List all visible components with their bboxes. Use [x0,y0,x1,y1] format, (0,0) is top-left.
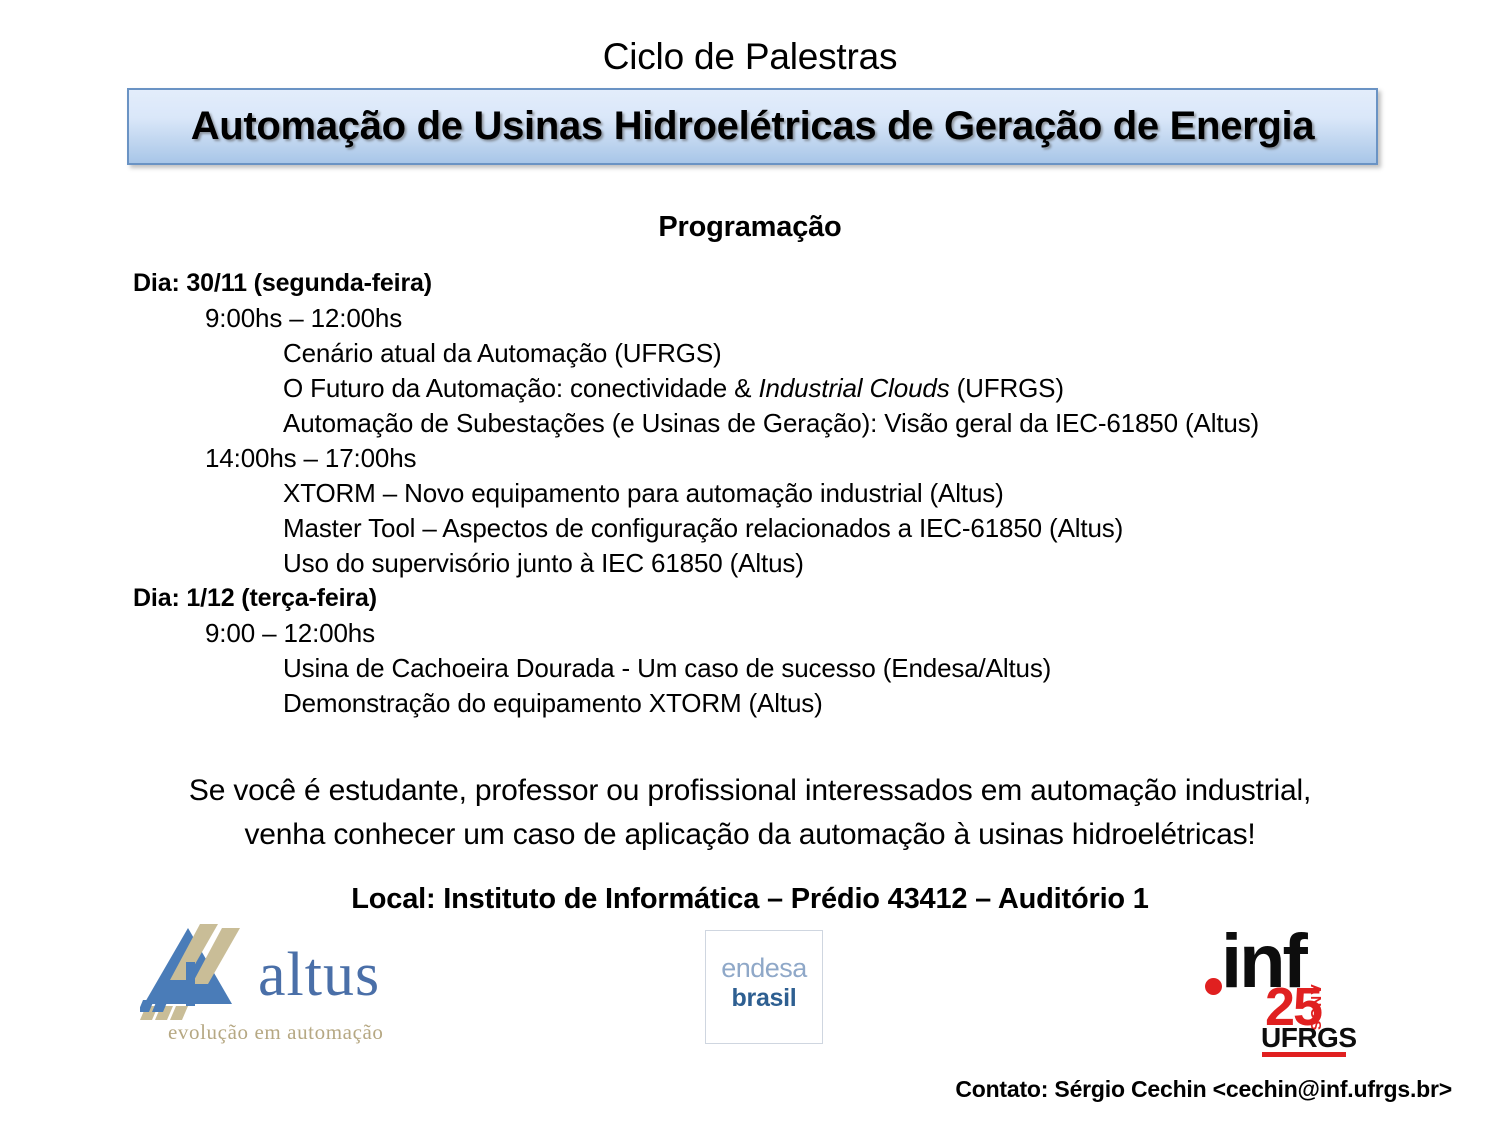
schedule-talk: Cenário atual da Automação (UFRGS) [133,336,1500,371]
altus-tagline: evolução em automação [168,1020,384,1045]
schedule-talk: Usina de Cachoeira Dourada - Um caso de … [133,651,1500,686]
schedule-talk: Master Tool – Aspectos de configuração r… [133,511,1500,546]
talk-italic: Industrial Clouds [758,373,949,403]
endesa-logo: endesa brasil [705,930,823,1044]
schedule-talk: Automação de Subestações (e Usinas de Ge… [133,406,1500,441]
endesa-wordmark: endesa [706,955,822,982]
venue-line: Local: Instituto de Informática – Prédio… [0,883,1500,916]
contact-line: Contato: Sérgio Cechin <cechin@inf.ufrgs… [955,1076,1452,1103]
title-banner: Automação de Usinas Hidroelétricas de Ge… [127,88,1378,165]
page-kicker: Ciclo de Palestras [0,0,1500,77]
schedule-time: 9:00hs – 12:00hs [133,301,1500,336]
call-to-action: Se você é estudante, professor ou profis… [0,769,1500,857]
schedule-list: Dia: 30/11 (segunda-feira) 9:00hs – 12:0… [0,266,1500,721]
schedule-talk: Demonstração do equipamento XTORM (Altus… [133,686,1500,721]
inf-ufrgs-logo: inf 25 ANOS UFRGS [1203,926,1363,1056]
schedule-talk: Uso do supervisório junto à IEC 61850 (A… [133,546,1500,581]
schedule-day-label: Dia: 1/12 (terça-feira) [133,581,1500,616]
schedule-time: 9:00 – 12:00hs [133,616,1500,651]
inf-underline-bar [1262,1052,1346,1057]
endesa-country: brasil [706,986,822,1011]
altus-wordmark: altus [258,940,380,1011]
page-title: Automação de Usinas Hidroelétricas de Ge… [191,104,1315,149]
call-to-action-line-1: Se você é estudante, professor ou profis… [0,769,1500,813]
altus-mountain-icon [140,922,252,1022]
endesa-logo-text: endesa brasil [706,955,822,1011]
altus-logo: altus evolução em automação [140,918,540,1058]
schedule-talk: XTORM – Novo equipamento para automação … [133,476,1500,511]
talk-post: (UFRGS) [950,373,1064,403]
call-to-action-line-2: venha conhecer um caso de aplicação da a… [0,813,1500,857]
inf-institution: UFRGS [1261,1022,1357,1054]
logo-row: altus evolução em automação endesa brasi… [0,918,1500,1063]
program-heading: Programação [0,211,1500,244]
schedule-time: 14:00hs – 17:00hs [133,441,1500,476]
inf-dot-icon [1205,978,1222,995]
schedule-talk: O Futuro da Automação: conectividade & I… [133,371,1500,406]
talk-pre: O Futuro da Automação: conectividade & [283,373,758,403]
schedule-day-label: Dia: 30/11 (segunda-feira) [133,266,1500,301]
